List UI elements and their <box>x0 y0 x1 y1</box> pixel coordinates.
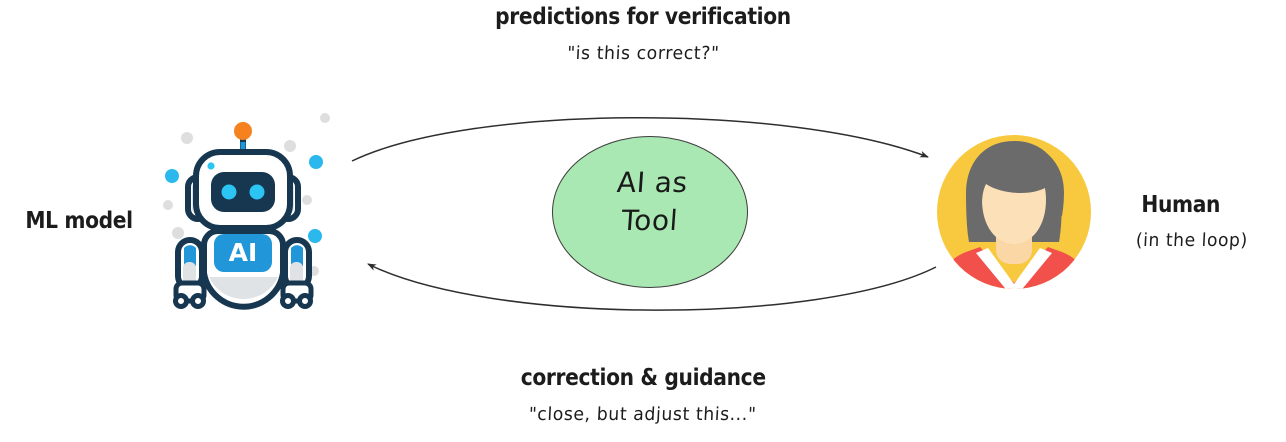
bottom-flow-label-text: correction & guidance <box>521 365 766 391</box>
avatar-collar <box>976 248 1052 299</box>
bottom-flow-quote: "close, but adjust this..." <box>0 404 1286 425</box>
top-flow-label: predictions for verification <box>0 4 1286 30</box>
avatar-shirt <box>932 247 1096 300</box>
avatar-hair-front <box>967 142 1064 216</box>
robot-eye-right <box>250 185 265 200</box>
left-node-label: ML model <box>25 208 132 234</box>
center-node-label: AI as Tool <box>550 164 751 240</box>
robot-face-panel <box>211 172 275 212</box>
bottom-flow-label: correction & guidance <box>0 365 1286 391</box>
robot-icon <box>163 113 330 307</box>
top-flow-label-text: predictions for verification <box>495 4 791 30</box>
robot-arm-left <box>176 240 205 307</box>
bottom-flow-quote-text: "close, but adjust this..." <box>529 404 758 425</box>
center-node-line1: AI as <box>553 164 752 202</box>
avatar-hair-back <box>966 141 1062 242</box>
robot-eye-left <box>222 185 237 200</box>
avatar-neck <box>996 218 1032 264</box>
right-node-sublabel: (in the loop) <box>1135 230 1248 251</box>
top-flow-quote-text: "is this correct?" <box>566 43 719 64</box>
avatar-circle-bg <box>937 135 1091 289</box>
avatar-face <box>982 160 1046 244</box>
robot-antenna-ball <box>234 122 252 140</box>
center-node-line2: Tool <box>550 202 749 240</box>
center-node-ai-as-tool: AI as Tool <box>552 136 748 288</box>
robot-ai-badge-label: AI <box>214 238 272 268</box>
human-avatar-icon <box>932 135 1096 300</box>
right-node-label: Human <box>1141 192 1220 218</box>
diagram-canvas: AI as Tool predictions for verification … <box>0 0 1286 442</box>
robot-arm-right <box>283 240 312 307</box>
robot-head <box>196 152 290 228</box>
top-flow-quote: "is this correct?" <box>0 43 1286 64</box>
